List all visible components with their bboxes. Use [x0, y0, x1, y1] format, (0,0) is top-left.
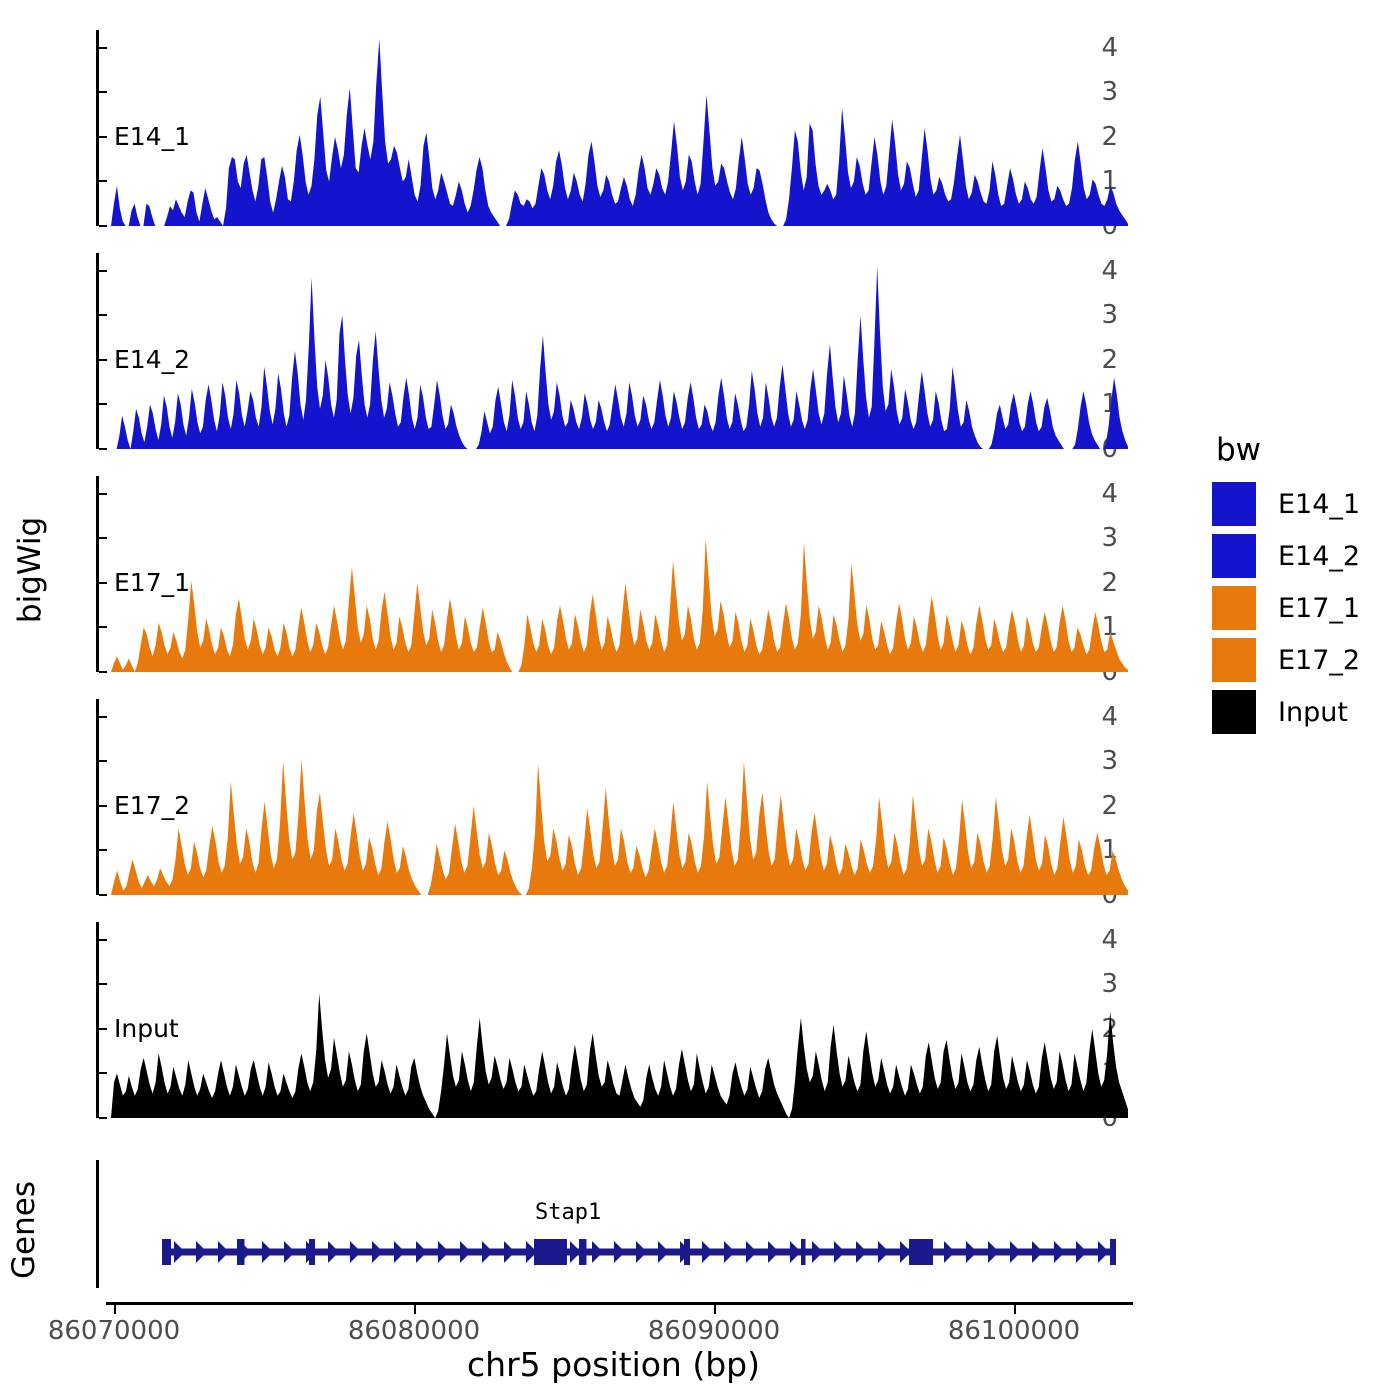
track-panel-e17_2: 01234E17_2 [96, 699, 1134, 895]
legend-item-e14_1[interactable]: E14_1 [1212, 482, 1360, 526]
track-panel-input: 01234Input [96, 922, 1134, 1118]
x-tick-label: 86080000 [348, 1316, 480, 1346]
x-tick [414, 1305, 416, 1314]
legend-color-swatch [1212, 482, 1256, 526]
x-axis-title: chr5 position (bp) [96, 1345, 1131, 1384]
x-tick [714, 1305, 716, 1314]
x-tick [1014, 1305, 1016, 1314]
legend-item-label: E17_2 [1278, 645, 1360, 676]
legend-color-swatch [1212, 534, 1256, 578]
x-tick-label: 86100000 [948, 1316, 1080, 1346]
x-tick-label: 86090000 [648, 1316, 780, 1346]
gene-model[interactable] [99, 1160, 1140, 1292]
legend-item-label: Input [1278, 697, 1348, 728]
legend-color-swatch [1212, 690, 1256, 734]
track-panel-e14_2: 01234E14_2 [96, 253, 1134, 449]
genes-axis-title: Genes [0, 1210, 94, 1250]
signal-area-input[interactable] [99, 922, 1134, 1118]
x-tick [114, 1305, 116, 1314]
signal-area-e17_1[interactable] [99, 476, 1134, 672]
legend-title: bw [1216, 432, 1261, 468]
legend-item-e17_1[interactable]: E17_1 [1212, 586, 1360, 630]
legend-item-label: E14_1 [1278, 489, 1360, 520]
legend-color-swatch [1212, 586, 1256, 630]
track-panel-e14_1: 01234E14_1 [96, 30, 1134, 226]
legend-item-label: E17_1 [1278, 593, 1360, 624]
signal-area-e14_1[interactable] [99, 30, 1134, 226]
legend-item-input[interactable]: Input [1212, 690, 1348, 734]
signal-area-e17_2[interactable] [99, 699, 1134, 895]
legend-item-label: E14_2 [1278, 541, 1360, 572]
x-tick-label: 86070000 [48, 1316, 180, 1346]
legend-color-swatch [1212, 638, 1256, 682]
legend-item-e17_2[interactable]: E17_2 [1212, 638, 1360, 682]
track-panel-e17_1: 01234E17_1 [96, 476, 1134, 672]
legend-item-e14_2[interactable]: E14_2 [1212, 534, 1360, 578]
signal-area-e14_2[interactable] [99, 253, 1134, 449]
x-axis-line [106, 1302, 1133, 1305]
